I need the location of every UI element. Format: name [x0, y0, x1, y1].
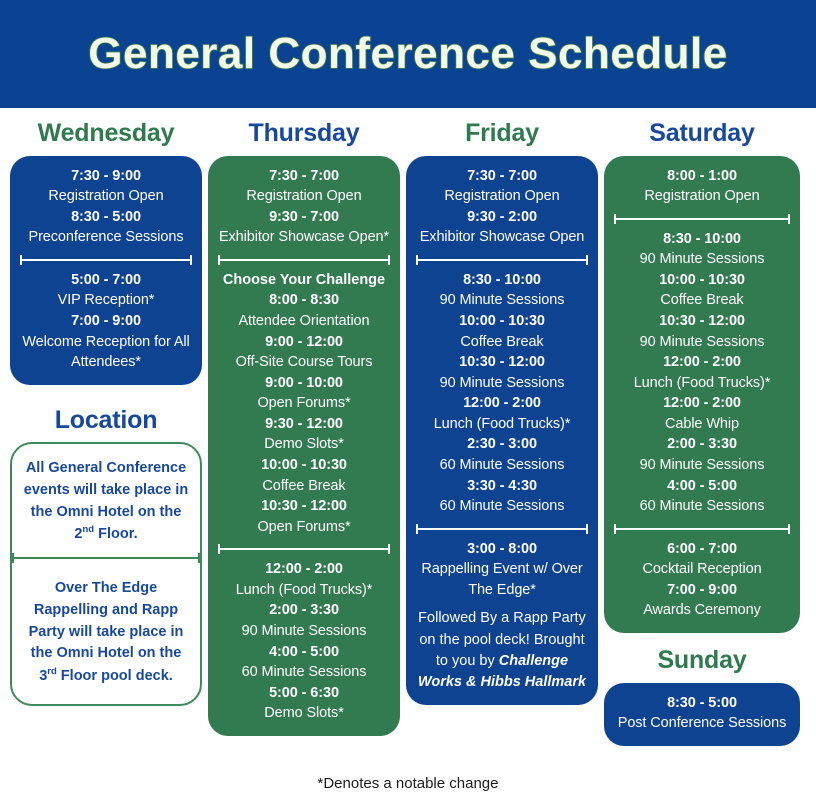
event-label: Open Forums*: [216, 393, 392, 414]
time-slot: 10:00 - 10:30: [612, 270, 792, 291]
event-note-rapp-party: Followed By a Rapp Party on the pool dec…: [414, 608, 590, 692]
time-slot: 12:00 - 2:00: [414, 393, 590, 414]
time-slot: 7:30 - 7:00: [414, 166, 590, 187]
sunday-block: Sunday 8:30 - 5:00 Post Conference Sessi…: [604, 647, 800, 746]
event-label: 90 Minute Sessions: [414, 290, 590, 311]
card-saturday: 8:00 - 1:00 Registration Open 8:30 - 10:…: [604, 156, 800, 634]
event-label: Exhibitor Showcase Open*: [216, 227, 392, 248]
footnote: *Denotes a notable change: [0, 775, 816, 792]
event-label: Post Conference Sessions: [612, 713, 792, 734]
page-title: General Conference Schedule: [88, 32, 728, 76]
section-divider: [218, 543, 390, 555]
time-slot: 9:00 - 12:00: [216, 332, 392, 353]
day-header-sunday: Sunday: [604, 647, 800, 675]
section-divider: [12, 552, 200, 564]
event-label: Lunch (Food Trucks)*: [414, 414, 590, 435]
event-label: Lunch (Food Trucks)*: [612, 373, 792, 394]
event-label: Demo Slots*: [216, 703, 392, 724]
time-slot: 4:00 - 5:00: [216, 642, 392, 663]
event-label: Registration Open: [612, 186, 792, 207]
column-thursday: Thursday 7:30 - 7:00 Registration Open 9…: [208, 120, 400, 736]
event-label: Off-Site Course Tours: [216, 352, 392, 373]
column-saturday: Saturday 8:00 - 1:00 Registration Open 8…: [604, 120, 800, 746]
time-slot: 8:30 - 10:00: [612, 229, 792, 250]
time-slot: 12:00 - 2:00: [216, 559, 392, 580]
time-slot: 7:30 - 7:00: [216, 166, 392, 187]
spacer: [18, 568, 194, 578]
time-slot: 6:00 - 7:00: [612, 539, 792, 560]
column-friday: Friday 7:30 - 7:00 Registration Open 9:3…: [406, 120, 598, 705]
event-label: 90 Minute Sessions: [612, 455, 792, 476]
card-location: All General Conference events will take …: [10, 442, 202, 705]
time-slot: 4:00 - 5:00: [612, 476, 792, 497]
event-label: 90 Minute Sessions: [612, 332, 792, 353]
page-banner: General Conference Schedule: [0, 0, 816, 108]
section-divider: [416, 523, 588, 535]
column-wednesday: Wednesday 7:30 - 9:00 Registration Open …: [10, 120, 202, 706]
time-slot: 3:30 - 4:30: [414, 476, 590, 497]
time-slot: 5:00 - 6:30: [216, 683, 392, 704]
section-divider: [416, 254, 588, 266]
time-slot: 10:30 - 12:00: [216, 496, 392, 517]
event-label: Demo Slots*: [216, 434, 392, 455]
time-slot: 10:30 - 12:00: [612, 311, 792, 332]
time-slot: 10:00 - 10:30: [216, 455, 392, 476]
card-thursday: 7:30 - 7:00 Registration Open 9:30 - 7:0…: [208, 156, 400, 736]
conference-schedule-page: General Conference Schedule Wednesday 7:…: [0, 0, 816, 800]
event-label: Welcome Reception for All Attendees*: [18, 332, 194, 373]
event-label: Exhibitor Showcase Open: [414, 227, 590, 248]
event-label: Registration Open: [18, 186, 194, 207]
location-note-secondary: Over The Edge Rappelling and Rapp Party …: [18, 578, 194, 688]
time-slot: 12:00 - 2:00: [612, 352, 792, 373]
event-label: Lunch (Food Trucks)*: [216, 580, 392, 601]
location-note-primary-tail: Floor.: [94, 526, 138, 542]
time-slot: 10:00 - 10:30: [414, 311, 590, 332]
event-label: 90 Minute Sessions: [612, 249, 792, 270]
card-sunday: 8:30 - 5:00 Post Conference Sessions: [604, 683, 800, 746]
group-heading-choose-your-challenge: Choose Your Challenge: [216, 270, 392, 291]
event-label: Coffee Break: [414, 332, 590, 353]
time-slot: 7:00 - 9:00: [612, 580, 792, 601]
event-label: 60 Minute Sessions: [216, 662, 392, 683]
event-label: 90 Minute Sessions: [414, 373, 590, 394]
time-slot: 2:00 - 3:30: [216, 600, 392, 621]
time-slot: 2:30 - 3:00: [414, 434, 590, 455]
day-header-thursday: Thursday: [208, 120, 400, 148]
time-slot: 9:30 - 12:00: [216, 414, 392, 435]
ordinal-suffix: rd: [47, 666, 57, 677]
time-slot: 8:30 - 5:00: [18, 207, 194, 228]
event-label: Attendee Orientation: [216, 311, 392, 332]
section-divider: [614, 213, 790, 225]
time-slot: 8:30 - 10:00: [414, 270, 590, 291]
time-slot: 7:30 - 9:00: [18, 166, 194, 187]
event-label: VIP Reception*: [18, 290, 194, 311]
time-slot: 7:00 - 9:00: [18, 311, 194, 332]
day-header-friday: Friday: [406, 120, 598, 148]
ordinal-suffix: nd: [82, 524, 94, 535]
event-label: 90 Minute Sessions: [216, 621, 392, 642]
event-label: Registration Open: [216, 186, 392, 207]
event-label: Preconference Sessions: [18, 227, 194, 248]
event-label: 60 Minute Sessions: [414, 455, 590, 476]
event-label: Open Forums*: [216, 517, 392, 538]
day-header-wednesday: Wednesday: [10, 120, 202, 148]
time-slot: 9:30 - 2:00: [414, 207, 590, 228]
event-label: Coffee Break: [216, 476, 392, 497]
time-slot: 8:00 - 8:30: [216, 290, 392, 311]
section-divider: [218, 254, 390, 266]
time-slot: 8:30 - 5:00: [612, 693, 792, 714]
schedule-columns: Wednesday 7:30 - 9:00 Registration Open …: [0, 108, 816, 746]
location-note-secondary-tail: Floor pool deck.: [57, 668, 173, 684]
time-slot: 12:00 - 2:00: [612, 393, 792, 414]
time-slot: 2:00 - 3:30: [612, 434, 792, 455]
event-label: Registration Open: [414, 186, 590, 207]
location-heading: Location: [10, 407, 202, 435]
event-label: Cable Whip: [612, 414, 792, 435]
event-label: Awards Ceremony: [612, 600, 792, 621]
event-label: 60 Minute Sessions: [612, 496, 792, 517]
time-slot: 5:00 - 7:00: [18, 270, 194, 291]
section-divider: [614, 523, 790, 535]
location-note-primary: All General Conference events will take …: [18, 458, 194, 546]
card-friday: 7:30 - 7:00 Registration Open 9:30 - 2:0…: [406, 156, 598, 705]
time-slot: 10:30 - 12:00: [414, 352, 590, 373]
time-slot: 9:00 - 10:00: [216, 373, 392, 394]
event-label: 60 Minute Sessions: [414, 496, 590, 517]
event-label: Cocktail Reception: [612, 559, 792, 580]
time-slot: 3:00 - 8:00: [414, 539, 590, 560]
card-wednesday: 7:30 - 9:00 Registration Open 8:30 - 5:0…: [10, 156, 202, 385]
event-label: Coffee Break: [612, 290, 792, 311]
event-label: Rappelling Event w/ Over The Edge*: [414, 559, 590, 600]
day-header-saturday: Saturday: [604, 120, 800, 148]
time-slot: 8:00 - 1:00: [612, 166, 792, 187]
section-divider: [20, 254, 192, 266]
time-slot: 9:30 - 7:00: [216, 207, 392, 228]
